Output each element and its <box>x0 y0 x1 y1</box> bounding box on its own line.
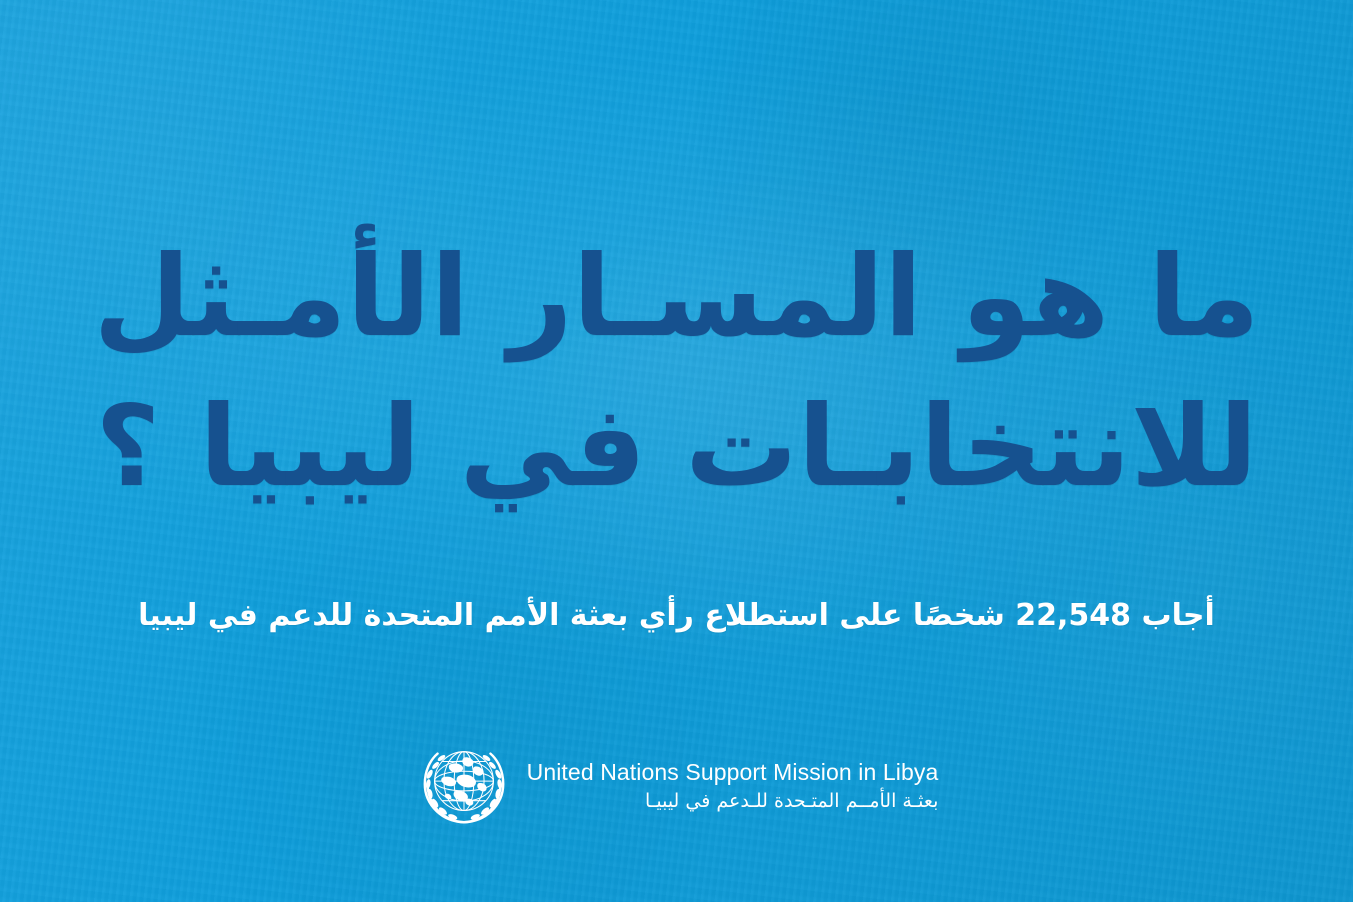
unsmil-logo: United Nations Support Mission in Libya … <box>0 736 1353 834</box>
un-emblem-icon <box>415 736 513 834</box>
page-title: ما هو المسـار الأمـثل للانتخابـات في ليب… <box>0 222 1353 522</box>
logo-arabic-name: بعثـة الأمــم المتـحدة للـدعم في ليبيـا <box>527 789 939 815</box>
subtitle-text: أجاب 22,548 شخصًا على استطلاع رأي بعثة ا… <box>0 596 1353 637</box>
headline-line-1: ما هو المسـار الأمـثل <box>0 222 1353 372</box>
headline-line-2: للانتخابـات في ليبيا ؟ <box>0 372 1353 522</box>
poster-canvas: ما هو المسـار الأمـثل للانتخابـات في ليب… <box>0 0 1353 902</box>
logo-text-block: United Nations Support Mission in Libya … <box>527 755 939 814</box>
logo-english-name: United Nations Support Mission in Libya <box>527 759 939 787</box>
